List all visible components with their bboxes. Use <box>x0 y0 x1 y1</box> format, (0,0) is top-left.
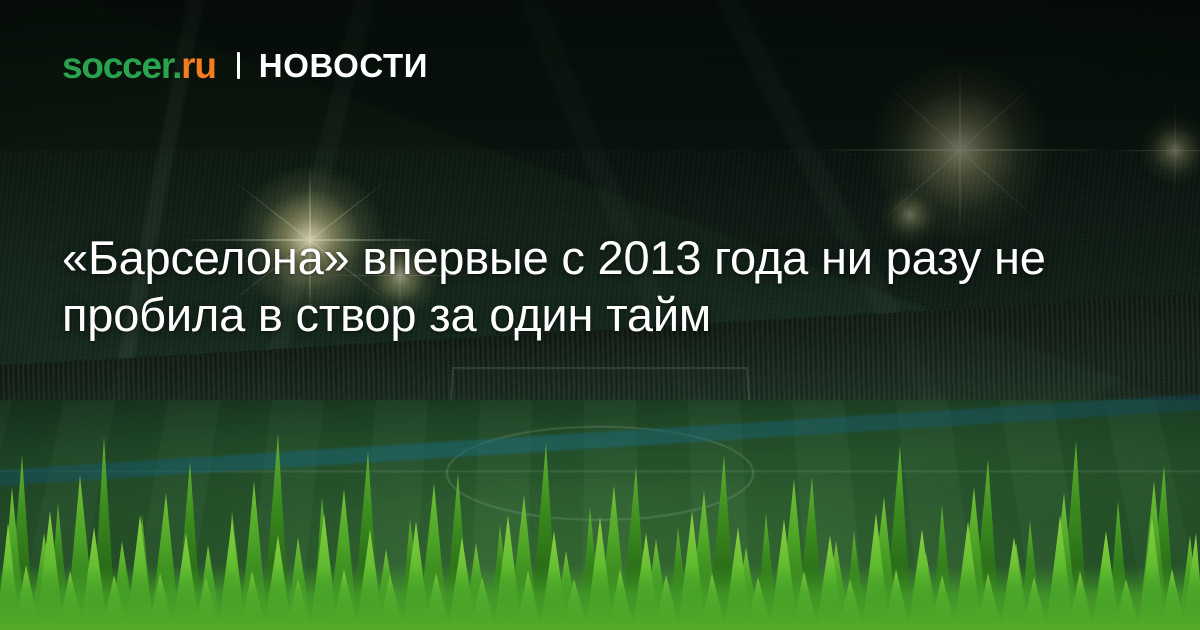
logo-word-soccer: soccer <box>62 45 172 86</box>
header-separator-icon <box>237 52 240 79</box>
grass-blades-svg <box>0 415 1200 630</box>
section-label-news: НОВОСТИ <box>259 49 428 82</box>
news-banner-card: soccer.ru НОВОСТИ «Барселона» впервые с … <box>0 0 1200 630</box>
logo-word-ru: ru <box>181 45 216 86</box>
site-header: soccer.ru НОВОСТИ <box>62 47 428 84</box>
grass-base <box>0 565 1200 630</box>
soccer-ru-logo[interactable]: soccer.ru <box>62 47 216 84</box>
foreground-grass <box>0 415 1200 630</box>
logo-dot: . <box>172 45 181 86</box>
article-headline: «Барселона» впервые с 2013 года ни разу … <box>62 229 1147 343</box>
